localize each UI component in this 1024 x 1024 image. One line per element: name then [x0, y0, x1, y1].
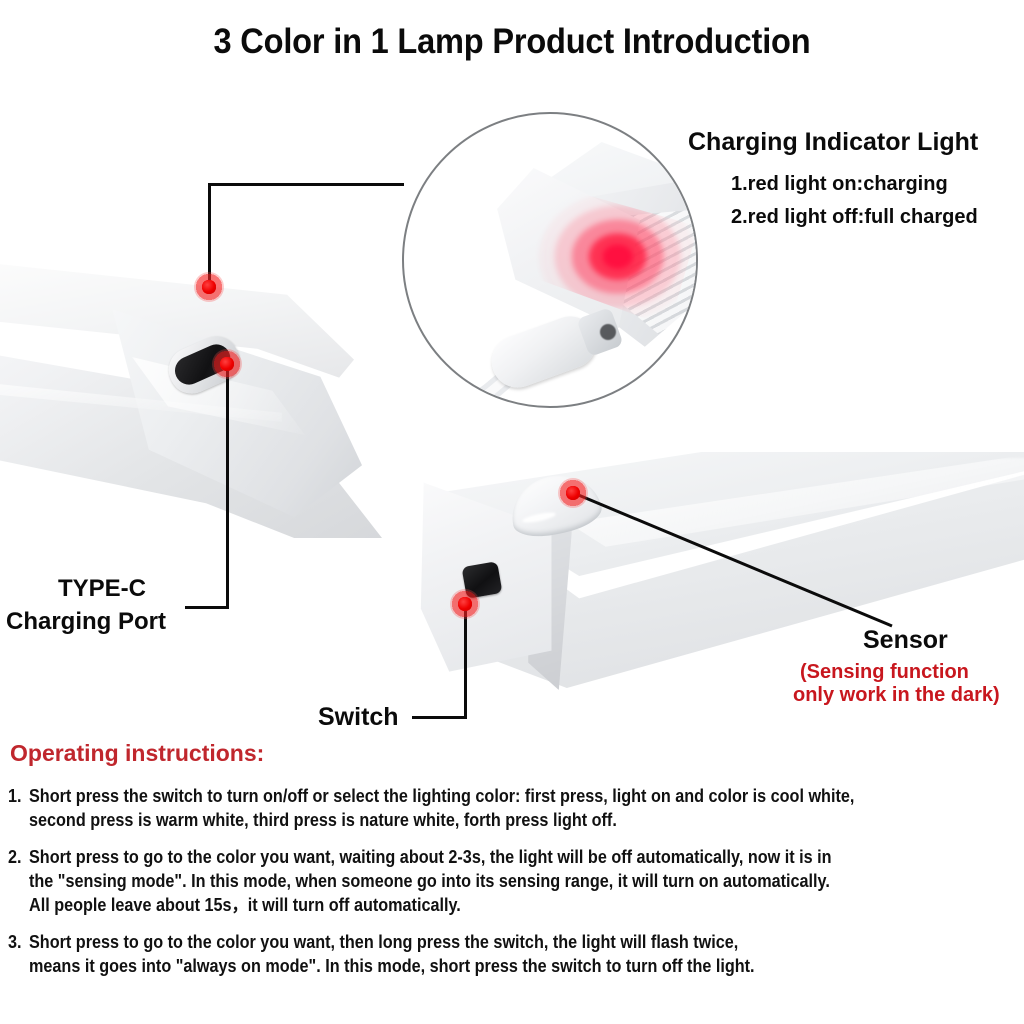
instruction-text: Short press the switch to turn on/off or…	[29, 784, 919, 832]
switch-label: Switch	[318, 703, 399, 732]
type-c-label-line-1: TYPE-C	[58, 575, 146, 603]
charging-indicator-inset-photo	[402, 112, 698, 408]
marker-dot-sensor	[558, 478, 588, 508]
sensor-note-line-2: only work in the dark)	[793, 684, 1000, 707]
marker-dot-switch	[450, 589, 480, 619]
leader-line-typec-horizontal	[185, 606, 229, 609]
charging-indicator-heading: Charging Indicator Light	[688, 128, 978, 157]
leader-line-typec-vertical	[226, 364, 229, 609]
sensor-label: Sensor	[863, 626, 948, 655]
charging-indicator-line-2: 2.red light off:full charged	[731, 206, 978, 229]
leader-line-sensor-diagonal	[560, 480, 910, 640]
usb-c-plug-seat	[600, 324, 616, 340]
operating-instructions-list: 1. Short press the switch to turn on/off…	[8, 784, 1018, 991]
type-c-label-line-2: Charging Port	[6, 608, 166, 636]
instruction-item: 2. Short press to go to the color you wa…	[8, 845, 1018, 917]
instruction-number: 1.	[8, 784, 27, 832]
instruction-text: Short press to go to the color you want,…	[29, 845, 919, 917]
leader-line-switch-horizontal	[412, 716, 467, 719]
leader-line-switch-vertical	[464, 604, 467, 718]
charging-indicator-line-1: 1.red light on:charging	[731, 173, 948, 196]
instruction-number: 2.	[8, 845, 27, 917]
sensor-note-line-1: (Sensing function	[800, 661, 969, 684]
operating-instructions-heading: Operating instructions:	[10, 740, 264, 767]
marker-dot-charging-indicator	[194, 272, 224, 302]
page-title: 3 Color in 1 Lamp Product Introduction	[36, 22, 988, 62]
leader-line-charging-horizontal	[208, 183, 404, 186]
left-lamp-photo	[0, 248, 382, 548]
infographic-canvas: 3 Color in 1 Lamp Product Introduction	[0, 0, 1024, 1024]
instruction-item: 1. Short press the switch to turn on/off…	[8, 784, 1018, 832]
marker-dot-type-c-port	[212, 349, 242, 379]
instruction-text: Short press to go to the color you want,…	[29, 930, 919, 978]
instruction-item: 3. Short press to go to the color you wa…	[8, 930, 1018, 978]
instruction-number: 3.	[8, 930, 27, 978]
